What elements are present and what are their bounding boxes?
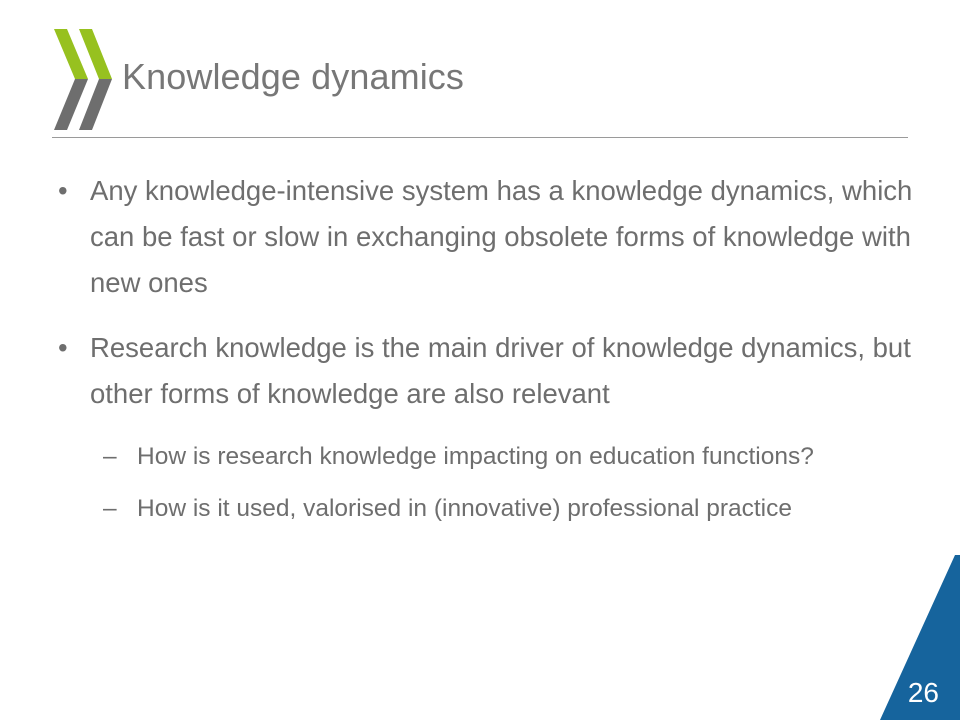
corner-triangle-decoration: [850, 555, 960, 720]
slide-header: Knowledge dynamics: [0, 0, 960, 140]
sub-bullet-item: – How is research knowledge impacting on…: [0, 436, 960, 478]
bullet-item: • Research knowledge is the main driver …: [0, 325, 960, 417]
bullet-text: Any knowledge-intensive system has a kno…: [90, 168, 960, 306]
presentation-slide: Knowledge dynamics • Any knowledge-inten…: [0, 0, 960, 720]
bullet-item: • Any knowledge-intensive system has a k…: [0, 168, 960, 306]
page-title: Knowledge dynamics: [122, 56, 464, 98]
en-dash-icon: –: [103, 488, 117, 530]
bullet-dot-icon: •: [58, 168, 68, 214]
sub-bullet-text: How is research knowledge impacting on e…: [137, 436, 960, 478]
sub-bullet-text: How is it used, valorised in (innovative…: [137, 488, 960, 530]
double-chevron-logo-icon: [50, 29, 112, 130]
en-dash-icon: –: [103, 436, 117, 478]
bullet-dot-icon: •: [58, 325, 68, 371]
sub-bullet-item: – How is it used, valorised in (innovati…: [0, 488, 960, 530]
title-divider: [52, 137, 908, 138]
slide-body-content: • Any knowledge-intensive system has a k…: [0, 168, 960, 540]
bullet-text: Research knowledge is the main driver of…: [90, 325, 960, 417]
page-number: 26: [908, 679, 939, 707]
